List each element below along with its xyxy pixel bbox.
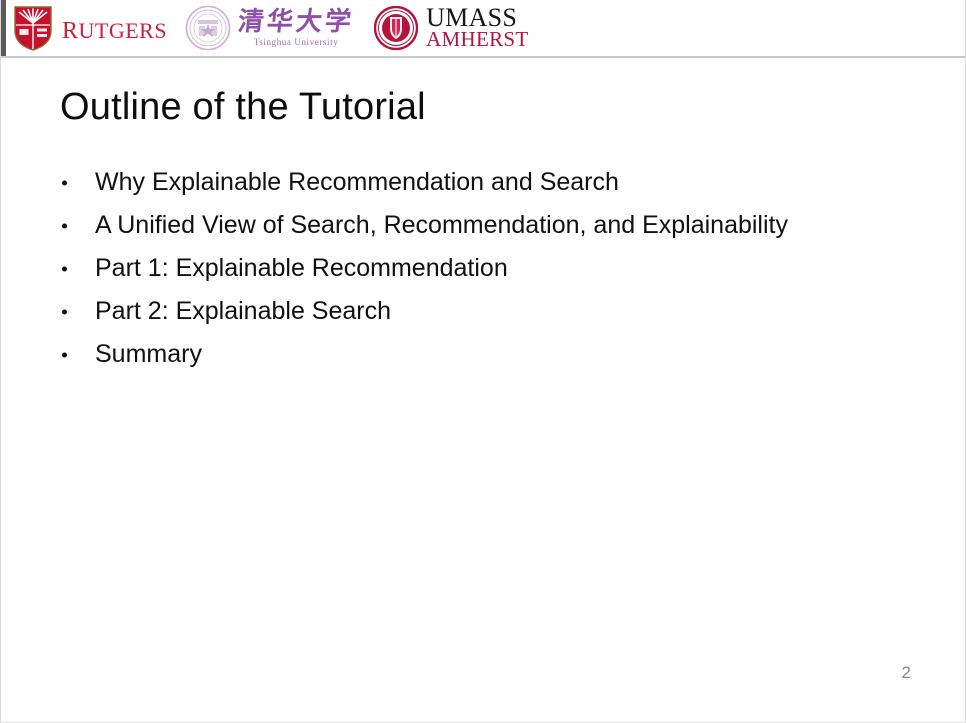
bullet-dot-icon [62,352,67,357]
list-item: Why Explainable Recommendation and Searc… [60,161,940,204]
band-left-edge [1,0,6,56]
bullet-dot-icon [62,309,67,314]
list-item-label: Part 2: Explainable Search [95,299,391,324]
page-title: Outline of the Tutorial [60,86,426,129]
slide-content-area: Outline of the Tutorial Why Explainable … [1,58,966,723]
logo-header-band: Rutgers 清华大学 Tsing [1,0,966,58]
tsinghua-name-cn: 清华大学 [237,9,356,35]
bullet-dot-icon [62,180,67,185]
list-item-label: Summary [95,342,202,367]
presentation-slide: Rutgers 清华大学 Tsing [0,0,966,723]
bullet-dot-icon [62,266,67,271]
list-item: A Unified View of Search, Recommendation… [60,204,940,247]
list-item-label: A Unified View of Search, Recommendation… [95,213,788,238]
umass-line-2: AMHERST [426,30,528,50]
tsinghua-seal-icon [185,5,231,51]
list-item: Part 1: Explainable Recommendation [60,247,940,290]
tsinghua-name-en: Tsinghua University [254,38,339,47]
list-item-label: Why Explainable Recommendation and Searc… [95,170,619,195]
list-item: Part 2: Explainable Search [60,290,940,333]
tsinghua-logo: 清华大学 Tsinghua University [185,0,354,56]
rutgers-wordmark: Rutgers [62,11,167,45]
list-item-label: Part 1: Explainable Recommendation [95,256,508,281]
umass-wordmark: UMASS AMHERST [426,6,528,51]
outline-bullet-list: Why Explainable Recommendation and Searc… [60,161,940,376]
slide-page-number: 2 [902,663,911,683]
bullet-dot-icon [62,223,67,228]
logo-row: Rutgers 清华大学 Tsing [9,0,529,56]
umass-seal-icon [374,6,418,50]
rutgers-logo: Rutgers [9,0,167,56]
rutgers-shield-icon [13,5,53,51]
tsinghua-wordmark: 清华大学 Tsinghua University [238,9,354,47]
umass-logo: UMASS AMHERST [374,0,528,56]
list-item: Summary [60,333,940,376]
